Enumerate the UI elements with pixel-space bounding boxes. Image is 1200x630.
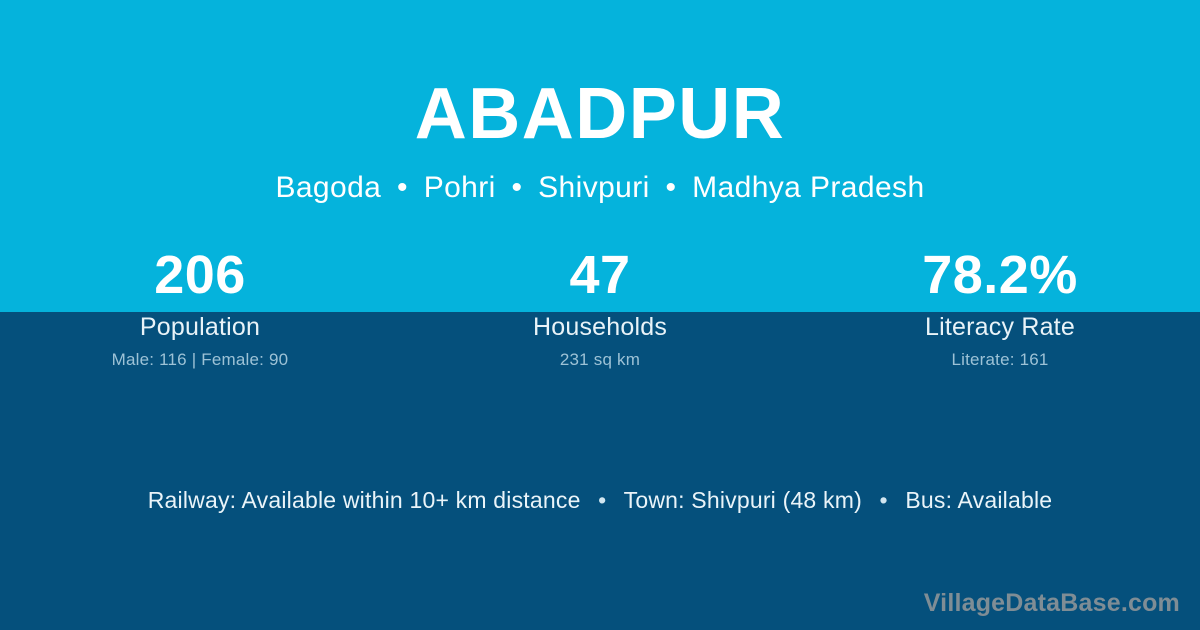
stat-value: 47 [400,244,800,306]
breadcrumb-item-block: Bagoda [275,171,381,204]
stat-literacy-rate: 78.2% Literacy Rate Literate: 161 [800,244,1200,370]
breadcrumb-item-subdistrict: Pohri [424,171,496,204]
amenity-railway: Railway: Available within 10+ km distanc… [148,487,581,513]
breadcrumb-separator-icon: • [504,173,529,203]
hero-text-block: ABADPUR Bagoda • Pohri • Shivpuri • Madh… [0,0,1200,203]
stat-sublabel: 231 sq km [400,350,800,370]
breadcrumb: Bagoda • Pohri • Shivpuri • Madhya Prade… [0,173,1200,203]
site-watermark: VillageDataBase.com [924,588,1180,618]
stats-row: 206 Population Male: 116 | Female: 90 47… [0,244,1200,370]
breadcrumb-item-district: Shivpuri [538,171,650,204]
stat-sublabel: Literate: 161 [800,350,1200,370]
stat-value: 78.2% [800,244,1200,306]
amenity-nearest-town: Town: Shivpuri (48 km) [624,487,862,513]
stat-households: 47 Households 231 sq km [400,244,800,370]
stat-sublabel: Male: 116 | Female: 90 [0,350,400,370]
stat-label: Population [0,313,400,341]
amenities-line: Railway: Available within 10+ km distanc… [0,484,1200,516]
stat-label: Households [400,313,800,341]
amenity-separator-icon: • [869,484,899,516]
amenity-separator-icon: • [587,484,617,516]
breadcrumb-item-state: Madhya Pradesh [692,171,924,204]
amenity-bus: Bus: Available [905,487,1052,513]
stat-population: 206 Population Male: 116 | Female: 90 [0,244,400,370]
page-title: ABADPUR [0,78,1200,150]
breadcrumb-separator-icon: • [658,173,683,203]
village-info-card: ABADPUR Bagoda • Pohri • Shivpuri • Madh… [0,0,1200,630]
stat-value: 206 [0,244,400,306]
stat-label: Literacy Rate [800,313,1200,341]
breadcrumb-separator-icon: • [390,173,415,203]
